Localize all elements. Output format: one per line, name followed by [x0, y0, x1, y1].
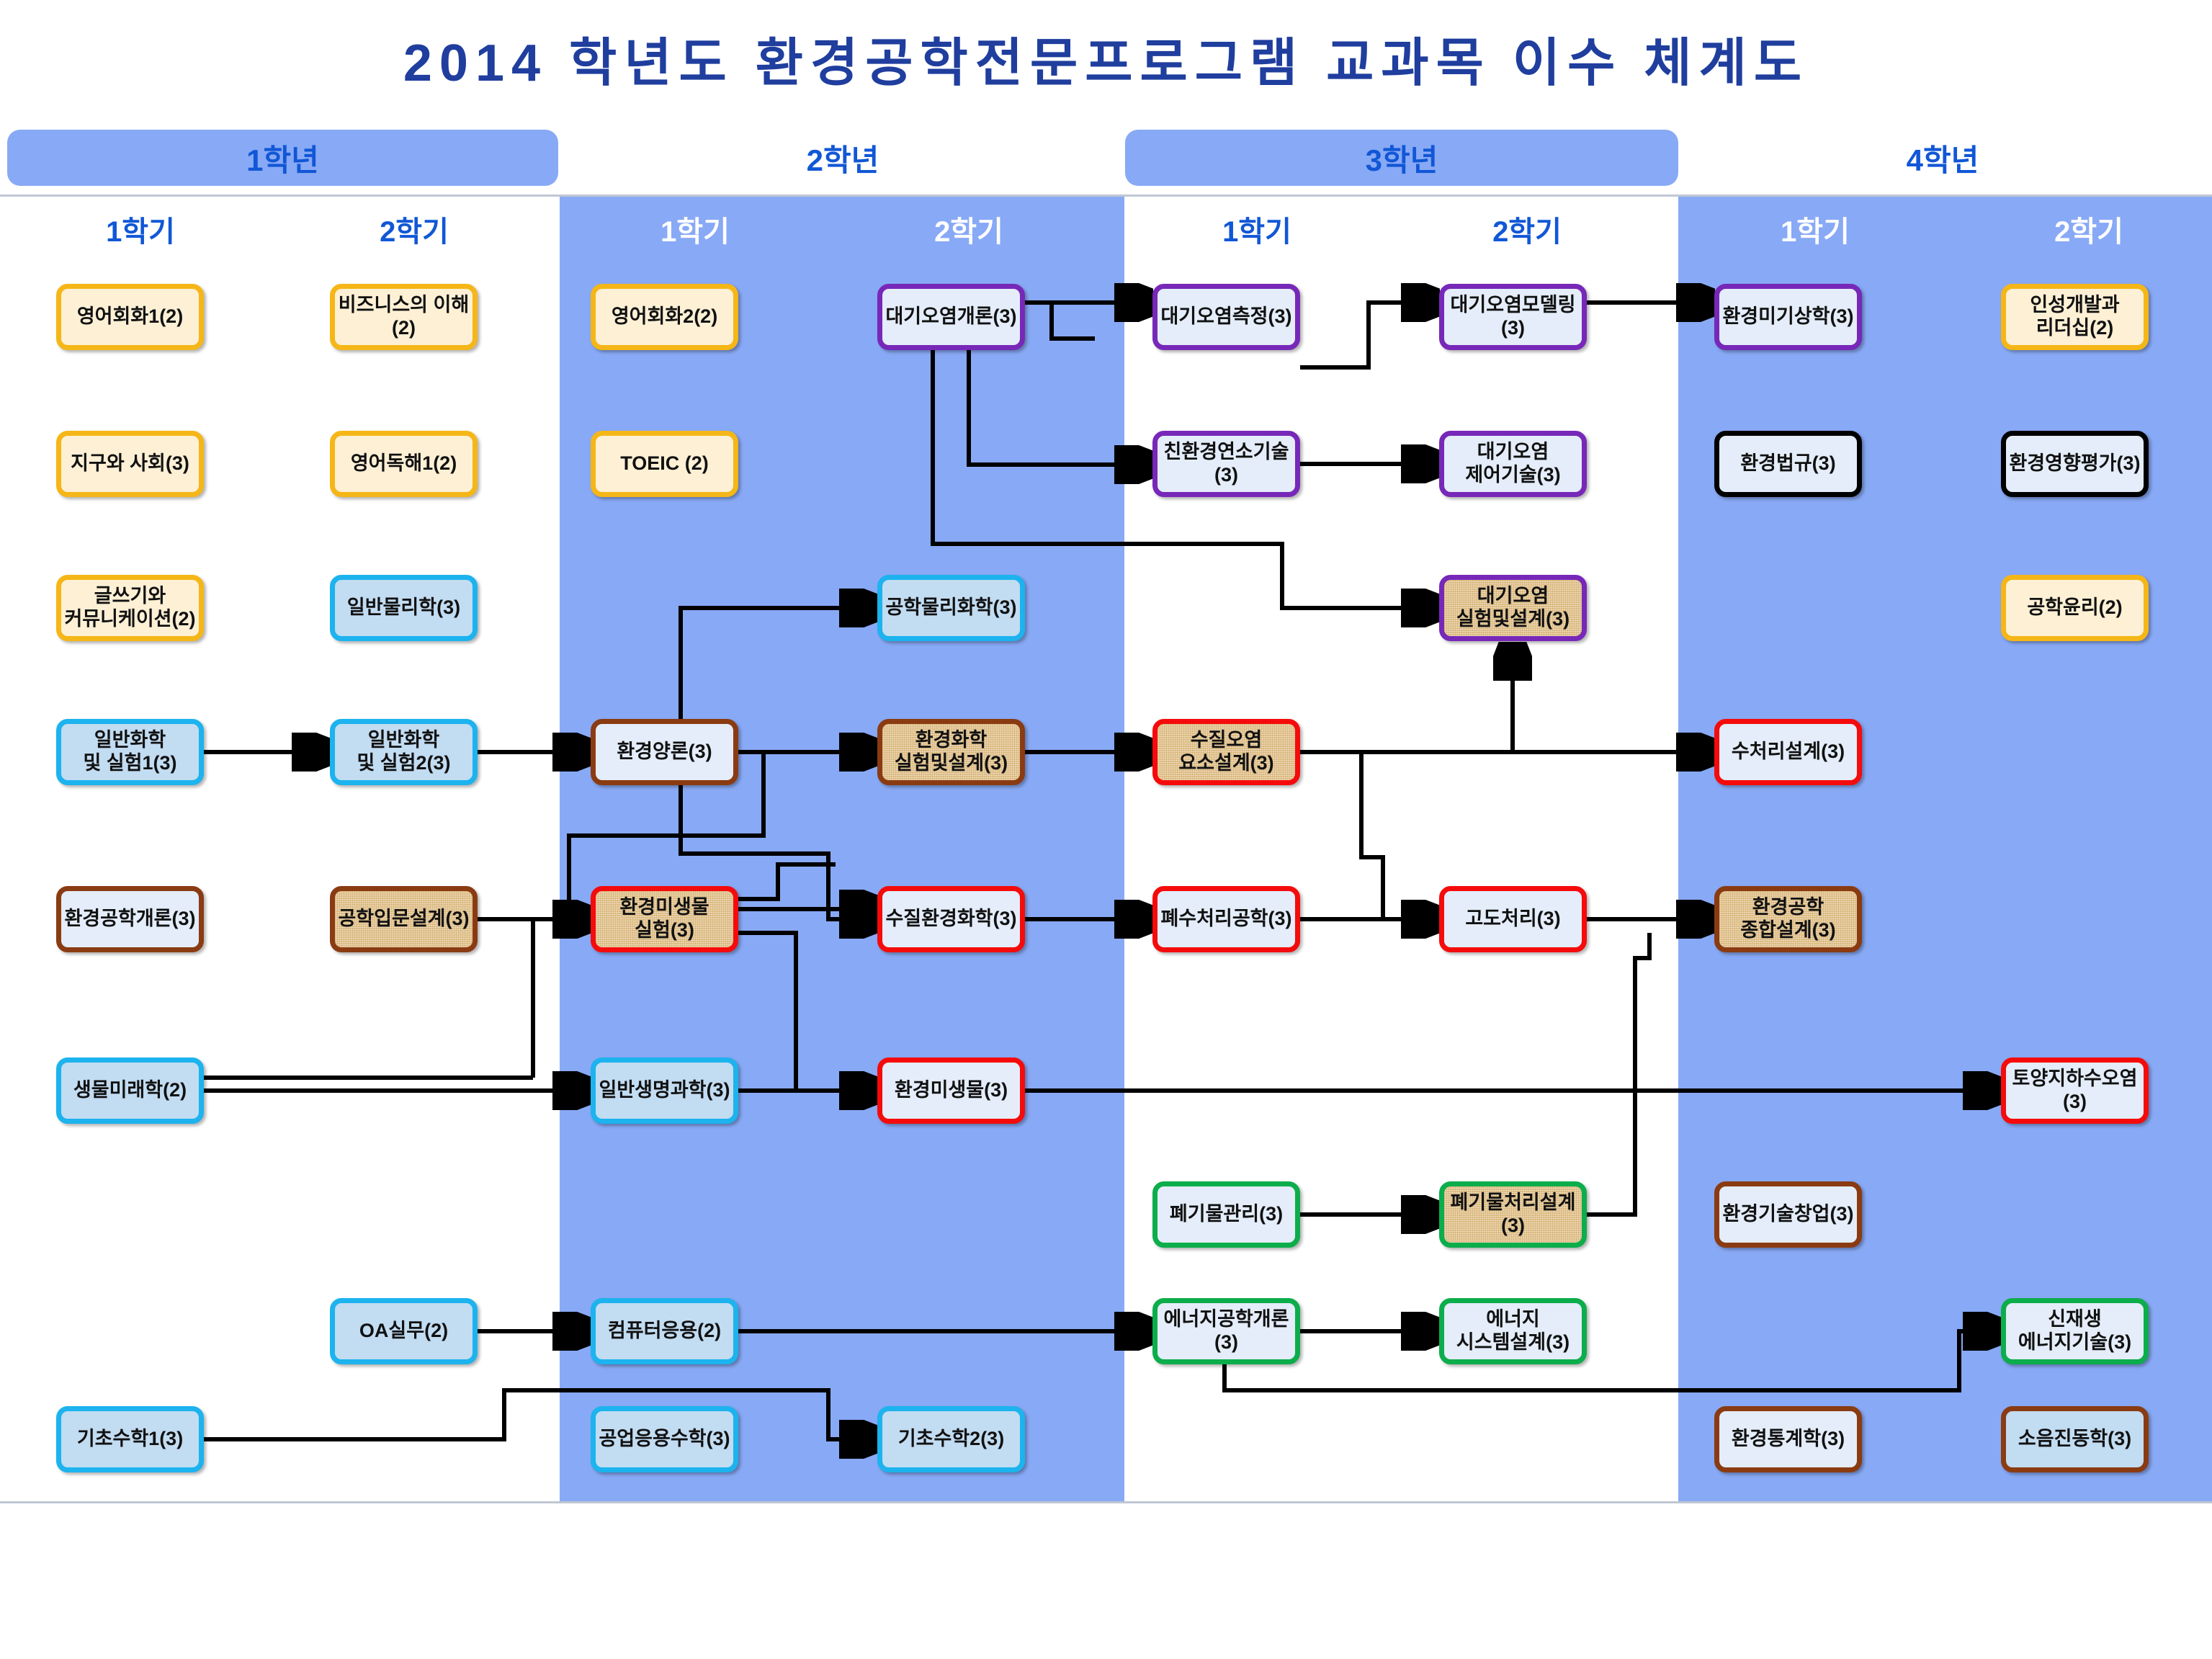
semester-text: 1학기: [661, 208, 730, 250]
year-header-label: 2학년: [807, 136, 879, 180]
semester-text: 1학기: [1781, 208, 1850, 250]
year-header-3: 3학년: [1125, 130, 1678, 186]
course-box-c_airmeas[interactable]: 대기오염측정(3): [1152, 284, 1300, 350]
course-box-c_persdev[interactable]: 인성개발과 리더십(2): [2001, 284, 2149, 350]
year-header-1: 1학년: [7, 130, 558, 186]
semester-text: 2학기: [2054, 208, 2123, 250]
semester-label-y1s1: 1학기: [22, 209, 259, 249]
year-header-label: 3학년: [1366, 136, 1438, 180]
course-box-c_engread[interactable]: 영어독해1(2): [330, 431, 478, 497]
semester-text: 1학기: [106, 208, 175, 250]
semester-text: 2학기: [1492, 208, 1562, 250]
course-box-c_watchem[interactable]: 수질환경화학(3): [877, 886, 1025, 952]
course-box-c_toeic[interactable]: TOEIC (2): [591, 431, 738, 497]
course-box-c_chem1[interactable]: 일반화학 및 실험1(3): [56, 719, 204, 785]
course-box-c_eng2[interactable]: 영어회화2(2): [591, 284, 738, 350]
course-box-c_math2[interactable]: 기초수학2(3): [877, 1406, 1025, 1472]
course-box-c_soilgw[interactable]: 토양지하수오염 (3): [2001, 1057, 2149, 1124]
course-box-c_engdes[interactable]: 공학입문설계(3): [330, 886, 478, 952]
course-box-c_phys[interactable]: 일반물리학(3): [330, 575, 478, 641]
course-box-c_envint[interactable]: 환경공학개론(3): [56, 886, 204, 952]
course-box-c_engethic[interactable]: 공학윤리(2): [2001, 575, 2149, 641]
semester-label-y1s2: 2학기: [295, 209, 533, 249]
page-title: 2014 학년도 환경공학전문프로그램 교과목 이수 체계도: [0, 20, 2212, 96]
course-box-c_comp[interactable]: 컴퓨터응용(2): [591, 1298, 738, 1364]
course-box-c_airlab[interactable]: 대기오염 실험및설계(3): [1439, 575, 1587, 641]
course-box-c_engphch[interactable]: 공학물리화학(3): [877, 575, 1025, 641]
year-header-label: 4학년: [1907, 136, 1979, 180]
year-header-label: 1학년: [246, 136, 319, 180]
course-box-c_airctrl[interactable]: 대기오염 제어기술(3): [1439, 431, 1587, 497]
course-box-c_airmodel[interactable]: 대기오염모델링 (3): [1439, 284, 1587, 350]
course-box-c_startup[interactable]: 환경기술창업(3): [1714, 1181, 1862, 1248]
course-box-c_biofut[interactable]: 생물미래학(2): [56, 1057, 204, 1124]
course-box-c_envquant[interactable]: 환경양론(3): [591, 719, 738, 785]
footer-divider: [0, 1501, 2212, 1503]
course-box-c_envmic[interactable]: 환경미생물(3): [877, 1057, 1025, 1124]
semester-label-y2s1: 1학기: [576, 209, 814, 249]
course-box-c_capstone[interactable]: 환경공학 종합설계(3): [1714, 886, 1862, 952]
course-box-c_eia[interactable]: 환경영향평가(3): [2001, 431, 2149, 497]
legend: 선후수관계 대구대학교 환경공학과 전문교양MSC과목전공공통대기수질폐기물환경…: [0, 1507, 2212, 1659]
course-box-c_math1[interactable]: 기초수학1(3): [56, 1406, 204, 1472]
semester-text: 1학기: [1222, 208, 1291, 250]
year-header-4: 4학년: [1680, 130, 2206, 186]
course-box-c_ecoburn[interactable]: 친환경연소기술 (3): [1152, 431, 1300, 497]
year-header-2: 2학년: [562, 130, 1124, 186]
course-box-c_envmiclab[interactable]: 환경미생물 실험(3): [591, 886, 738, 952]
course-box-c_wastewtr[interactable]: 폐수처리공학(3): [1152, 886, 1300, 952]
course-box-c_write[interactable]: 글쓰기와 커뮤니케이션(2): [56, 575, 204, 641]
course-box-c_envstat[interactable]: 환경통계학(3): [1714, 1406, 1862, 1472]
course-box-c_noise[interactable]: 소음진동학(3): [2001, 1406, 2149, 1472]
course-box-c_renew[interactable]: 신재생 에너지기술(3): [2001, 1298, 2149, 1364]
course-box-c_energysys[interactable]: 에너지 시스템설계(3): [1439, 1298, 1587, 1364]
course-box-c_advtreat[interactable]: 고도처리(3): [1439, 886, 1587, 952]
course-box-c_earth[interactable]: 지구와 사회(3): [56, 431, 204, 497]
course-box-c_appmath[interactable]: 공업응용수학(3): [591, 1406, 738, 1472]
semester-label-y3s1: 1학기: [1138, 209, 1376, 249]
header-divider: [0, 194, 2212, 197]
curriculum-flowchart-page: 2014 학년도 환경공학전문프로그램 교과목 이수 체계도 1학년 2학년 3…: [0, 0, 2212, 1659]
semester-label-y4s2: 2학기: [1970, 209, 2208, 249]
course-box-c_envchlab[interactable]: 환경화학 실험및설계(3): [877, 719, 1025, 785]
course-box-c_envlaw[interactable]: 환경법규(3): [1714, 431, 1862, 497]
course-box-c_energyint[interactable]: 에너지공학개론 (3): [1152, 1298, 1300, 1364]
course-box-c_biz[interactable]: 비즈니스의 이해 (2): [330, 284, 478, 350]
semester-text: 2학기: [380, 208, 449, 250]
course-box-c_watproc[interactable]: 수처리설계(3): [1714, 719, 1862, 785]
semester-label-y3s2: 2학기: [1408, 209, 1646, 249]
course-box-c_wastemgmt[interactable]: 폐기물관리(3): [1152, 1181, 1300, 1248]
course-box-c_watdes[interactable]: 수질오염 요소설계(3): [1152, 719, 1300, 785]
course-box-c_micromet[interactable]: 환경미기상학(3): [1714, 284, 1862, 350]
semester-label-y2s2: 2학기: [850, 209, 1088, 249]
course-box-c_eng1[interactable]: 영어회화1(2): [56, 284, 204, 350]
course-box-c_airint[interactable]: 대기오염개론(3): [877, 284, 1025, 350]
course-box-c_genbio[interactable]: 일반생명과학(3): [591, 1057, 738, 1124]
course-box-c_chem2[interactable]: 일반화학 및 실험2(3): [330, 719, 478, 785]
semester-text: 2학기: [934, 208, 1003, 250]
semester-label-y4s1: 1학기: [1696, 209, 1934, 249]
course-box-c_wastedes[interactable]: 폐기물처리설계 (3): [1439, 1181, 1587, 1248]
course-box-c_oa[interactable]: OA실무(2): [330, 1298, 478, 1364]
